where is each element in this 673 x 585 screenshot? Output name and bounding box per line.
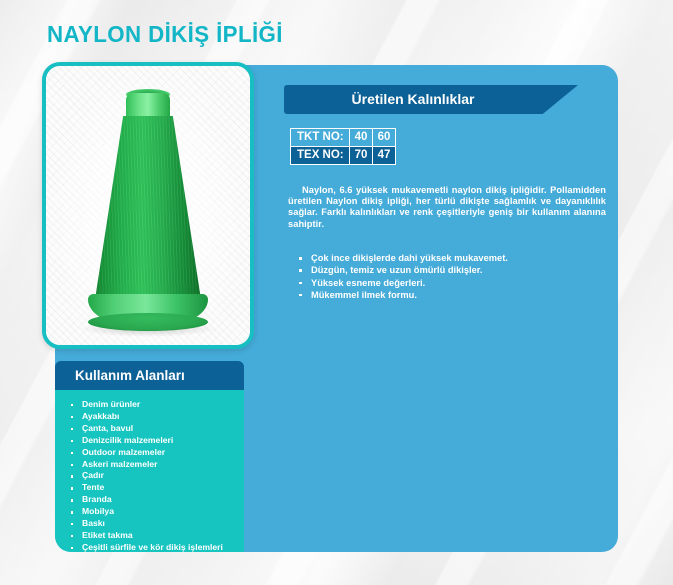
- tkt-no-label: TKT NO:: [291, 129, 350, 147]
- tkt-no-value-1: 40: [350, 129, 373, 147]
- tkt-no-value-2: 60: [373, 129, 396, 147]
- tex-no-value-1: 70: [350, 147, 373, 165]
- table-row: TKT NO: 40 60: [291, 129, 396, 147]
- thread-cone-body: [94, 116, 202, 306]
- list-item: Mobilya: [70, 506, 223, 518]
- list-item: Askeri malzemeler: [70, 459, 223, 471]
- usage-header-bar: Kullanım Alanları: [55, 361, 244, 390]
- list-item: Ayakkabı: [70, 411, 223, 423]
- usage-header-label: Kullanım Alanları: [75, 361, 185, 390]
- tex-no-value-2: 47: [373, 147, 396, 165]
- list-item: Düzgün, temiz ve uzun ömürlü dikişler.: [298, 264, 508, 276]
- list-item: Tente: [70, 482, 223, 494]
- thickness-header-label: Üretilen Kalınlıklar: [284, 85, 542, 114]
- thread-cone-base-lip: [88, 313, 208, 331]
- thickness-header-bar: Üretilen Kalınlıklar: [284, 85, 578, 114]
- list-item: Yüksek esneme değerleri.: [298, 277, 508, 289]
- list-item: Baskı: [70, 518, 223, 530]
- usage-list: Denim ürünler Ayakkabı Çanta, bavul Deni…: [70, 399, 223, 554]
- list-item: Etiket takma: [70, 530, 223, 542]
- thread-cone-cap: [126, 93, 170, 119]
- list-item: Çadır: [70, 470, 223, 482]
- list-item: Outdoor malzemeler: [70, 447, 223, 459]
- feature-list: Çok ince dikişlerde dahi yüksek mukaveme…: [298, 252, 508, 301]
- list-item: Çanta, bavul: [70, 423, 223, 435]
- product-description: Naylon, 6.6 yüksek mukavemetli naylon di…: [288, 185, 606, 230]
- list-item: Çok ince dikişlerde dahi yüksek mukaveme…: [298, 252, 508, 264]
- tex-no-label: TEX NO:: [291, 147, 350, 165]
- list-item: Denizcilik malzemeleri: [70, 435, 223, 447]
- product-datasheet-page: NAYLON DİKİŞ İPLİĞİ Üretilen Kalınlıklar…: [0, 0, 673, 585]
- list-item: Mükemmel ilmek formu.: [298, 289, 508, 301]
- list-item: Denim ürünler: [70, 399, 223, 411]
- thickness-table: TKT NO: 40 60 TEX NO: 70 47: [290, 128, 396, 165]
- product-image-card: [42, 62, 254, 349]
- list-item: Çeşitli sürfile ve kör dikiş işlemleri: [70, 542, 223, 554]
- page-title: NAYLON DİKİŞ İPLİĞİ: [47, 21, 283, 48]
- list-item: Branda: [70, 494, 223, 506]
- thread-cone-illustration: [46, 66, 250, 345]
- table-row: TEX NO: 70 47: [291, 147, 396, 165]
